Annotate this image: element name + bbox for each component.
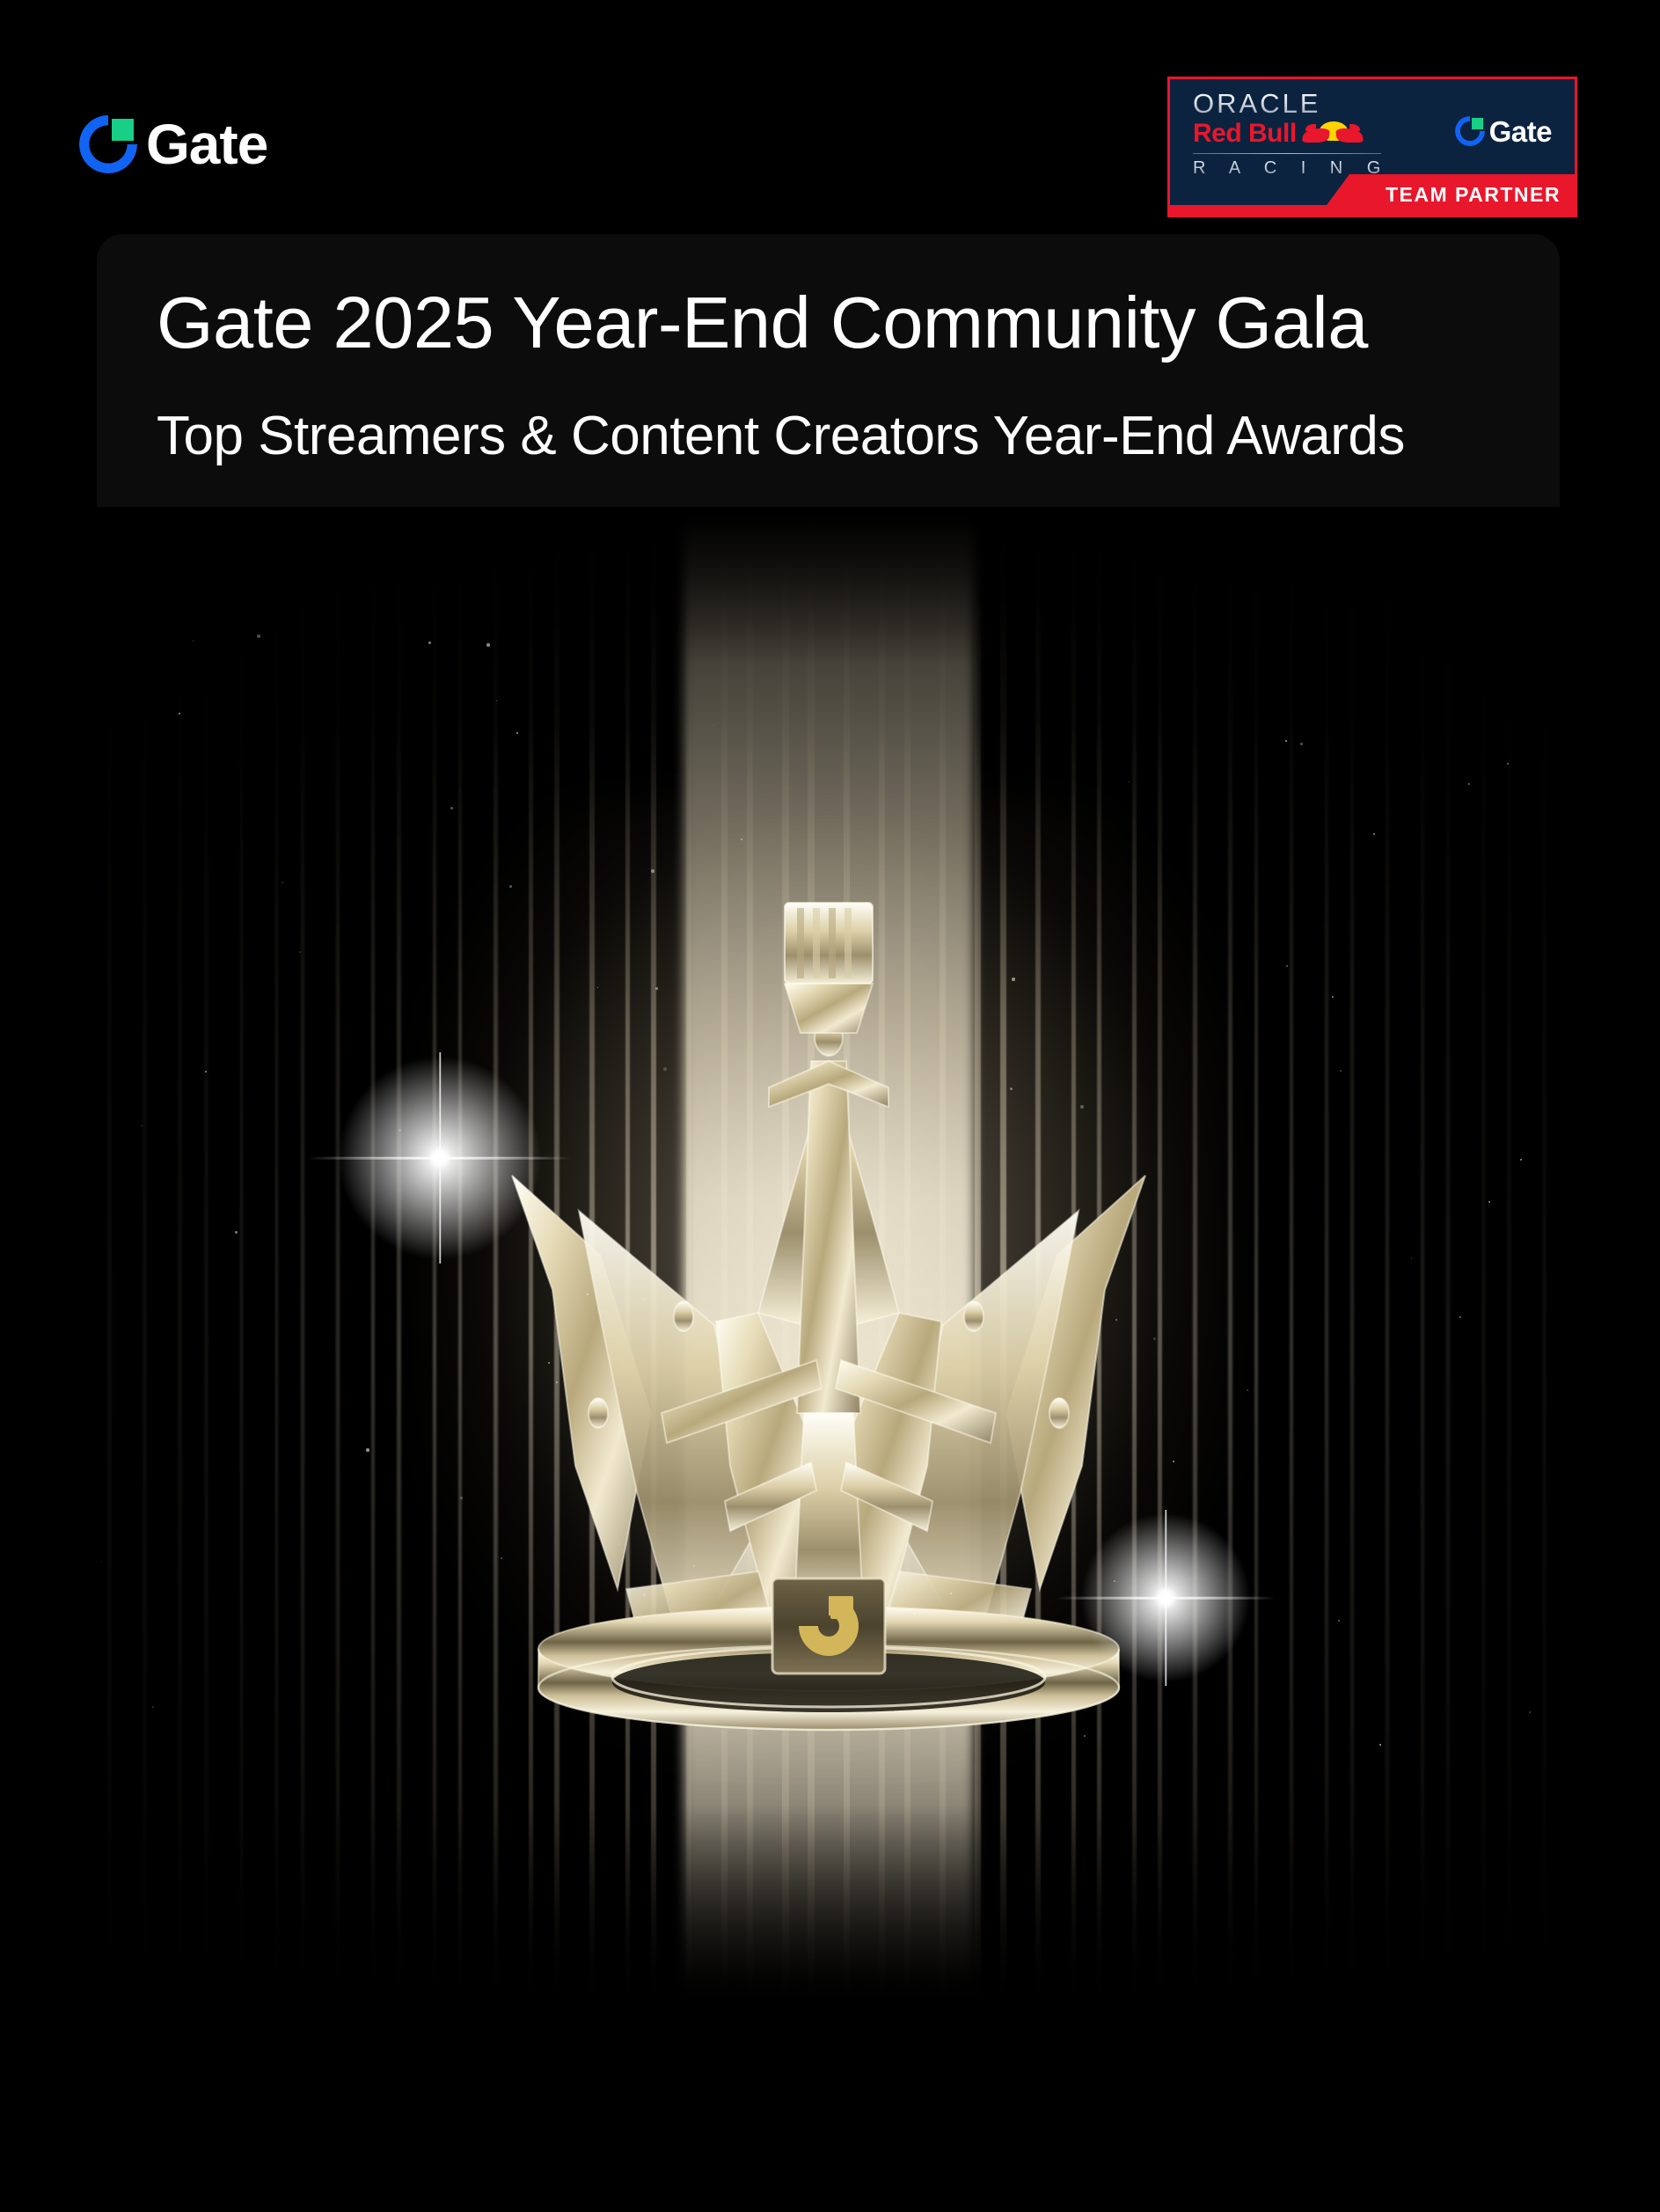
- golden-crown-trophy-icon: [494, 797, 1163, 1756]
- oracle-wordmark: ORACLE: [1193, 90, 1395, 119]
- page-header: Gate ORACLE Red Bull R A C I N G: [0, 0, 1660, 238]
- gate-brand-name: Gate: [146, 116, 267, 172]
- page-title: Gate 2025 Year-End Community Gala: [157, 278, 1500, 367]
- badge-divider: [1193, 153, 1381, 154]
- page-subtitle: Top Streamers & Content Creators Year-En…: [157, 404, 1500, 468]
- badge-gate-name: Gate: [1489, 117, 1552, 146]
- team-partner-label: TEAM PARTNER: [1386, 183, 1561, 207]
- red-bull-bulls-icon: [1302, 121, 1364, 147]
- gala-announcement-card: Gate 2025 Year-End Community Gala Top St…: [97, 234, 1560, 2034]
- card-text-block: Gate 2025 Year-End Community Gala Top St…: [97, 234, 1560, 468]
- page-root: Gate ORACLE Red Bull R A C I N G: [0, 0, 1660, 2212]
- red-bull-racing-lockup: ORACLE Red Bull R A C I N G: [1193, 90, 1395, 179]
- gate-logo-icon: [1455, 116, 1485, 146]
- oracle-red-bull-racing-team-partner-badge[interactable]: ORACLE Red Bull R A C I N G: [1167, 77, 1577, 217]
- gate-logo-icon: [79, 115, 137, 173]
- crown-hero-image: [97, 507, 1560, 2034]
- badge-gate-logo: Gate: [1455, 116, 1552, 146]
- red-bull-wordmark: Red Bull: [1193, 121, 1297, 147]
- team-partner-banner: TEAM PARTNER: [1320, 174, 1575, 215]
- gate-brand-logo[interactable]: Gate: [79, 113, 267, 176]
